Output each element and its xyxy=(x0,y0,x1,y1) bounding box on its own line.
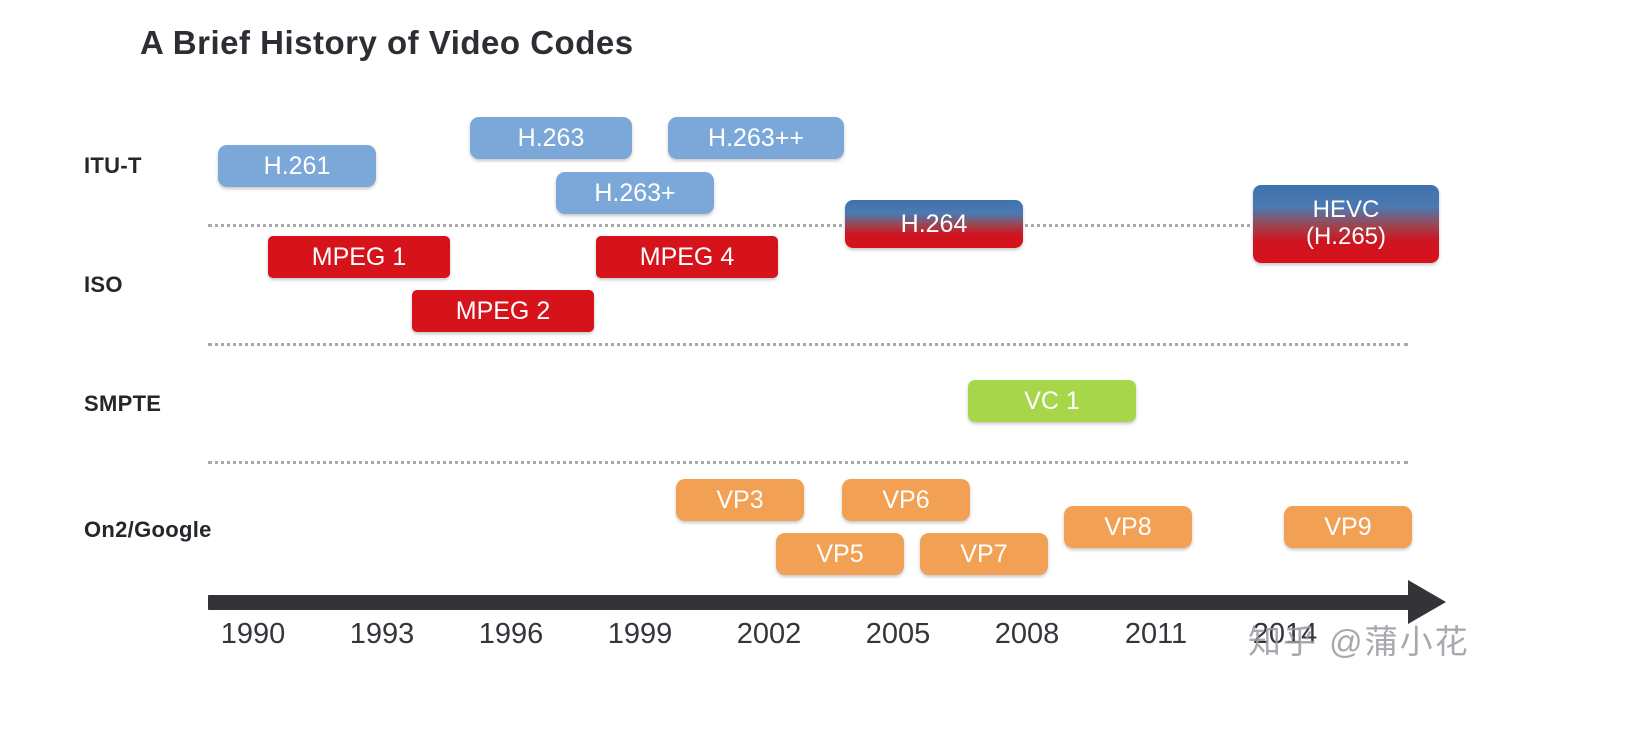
codec-box-hevc[interactable]: HEVC(H.265) xyxy=(1253,185,1439,263)
codec-box-label: MPEG 4 xyxy=(640,243,734,271)
axis-year-1993: 1993 xyxy=(322,618,442,651)
codec-box-label: VP8 xyxy=(1104,513,1151,541)
codec-box-sublabel: (H.265) xyxy=(1306,224,1386,251)
codec-box-label: H.263 xyxy=(518,124,585,152)
divider-itu-iso xyxy=(208,224,1408,227)
codec-box-vp8[interactable]: VP8 xyxy=(1064,506,1192,548)
codec-box-label: H.264 xyxy=(901,210,968,238)
codec-box-vp9[interactable]: VP9 xyxy=(1284,506,1412,548)
codec-box-label: VC 1 xyxy=(1024,387,1080,415)
codec-box-mpeg-1[interactable]: MPEG 1 xyxy=(268,236,450,278)
watermark-text: 知乎 @蒲小花 xyxy=(1248,615,1470,663)
codec-box-label: H.263+ xyxy=(594,179,675,207)
row-label-smpte: SMPTE xyxy=(84,391,161,417)
codec-box-h-263[interactable]: H.263++ xyxy=(668,117,844,159)
codec-box-h-261[interactable]: H.261 xyxy=(218,145,376,187)
codec-box-label: VP9 xyxy=(1324,513,1371,541)
axis-year-1996: 1996 xyxy=(451,618,571,651)
row-label-iso: ISO xyxy=(84,272,123,298)
codec-box-vc-1[interactable]: VC 1 xyxy=(968,380,1136,422)
codec-box-h-264[interactable]: H.264 xyxy=(845,200,1023,248)
timeline-diagram: A Brief History of Video Codes ITU-T ISO… xyxy=(0,0,1640,730)
codec-box-label: HEVC xyxy=(1313,197,1380,224)
divider-smpte-on2 xyxy=(208,461,1408,464)
axis-year-2011: 2011 xyxy=(1096,618,1216,651)
codec-box-vp6[interactable]: VP6 xyxy=(842,479,970,521)
codec-box-mpeg-2[interactable]: MPEG 2 xyxy=(412,290,594,332)
divider-iso-smpte xyxy=(208,343,1408,346)
codec-box-label: VP3 xyxy=(716,486,763,514)
codec-box-label: H.261 xyxy=(264,152,331,180)
codec-box-label: H.263++ xyxy=(708,124,804,152)
axis-year-2005: 2005 xyxy=(838,618,958,651)
codec-box-label: MPEG 1 xyxy=(312,243,406,271)
axis-year-1999: 1999 xyxy=(580,618,700,651)
timeline-axis xyxy=(208,595,1416,610)
axis-year-2002: 2002 xyxy=(709,618,829,651)
axis-year-2008: 2008 xyxy=(967,618,1087,651)
codec-box-vp3[interactable]: VP3 xyxy=(676,479,804,521)
row-label-itu-t: ITU-T xyxy=(84,153,142,179)
codec-box-mpeg-4[interactable]: MPEG 4 xyxy=(596,236,778,278)
codec-box-label: VP6 xyxy=(882,486,929,514)
codec-box-vp7[interactable]: VP7 xyxy=(920,533,1048,575)
row-label-on2-google: On2/Google xyxy=(84,517,212,543)
codec-box-h-263[interactable]: H.263 xyxy=(470,117,632,159)
codec-box-vp5[interactable]: VP5 xyxy=(776,533,904,575)
codec-box-label: VP5 xyxy=(816,540,863,568)
codec-box-label: VP7 xyxy=(960,540,1007,568)
codec-box-label: MPEG 2 xyxy=(456,297,550,325)
codec-box-h-263[interactable]: H.263+ xyxy=(556,172,714,214)
page-title: A Brief History of Video Codes xyxy=(140,24,634,62)
axis-year-1990: 1990 xyxy=(193,618,313,651)
